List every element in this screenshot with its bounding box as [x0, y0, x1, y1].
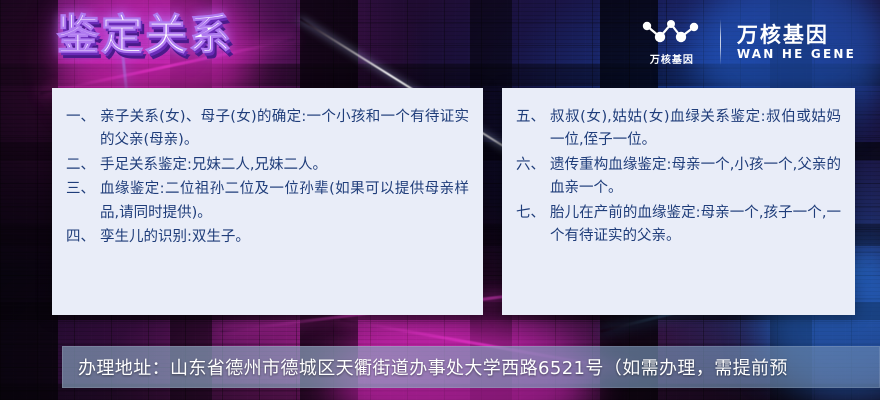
list-item-text: 叔叔(女),姑姑(女)血绿关系鉴定:叔伯或姑妈一位,侄子一位。: [550, 106, 841, 153]
list-item: 三、 血缘鉴定:二位祖孙二位及一位孙辈(如果可以提供母亲样品,请同时提供)。: [66, 178, 469, 225]
list-item-marker: 六、: [516, 154, 550, 177]
list-item-marker: 五、: [516, 106, 550, 129]
title-block: 鉴定关系: [57, 14, 233, 56]
brand-name-en: WAN HE GENE: [737, 47, 856, 61]
list-item: 四、 孪生儿的识别:双生子。: [66, 226, 469, 249]
address-banner: 办理地址：山东省德州市德城区天衢街道办事处大学西路6521号（如需办理，需提前预: [62, 346, 880, 388]
list-item-marker: 二、: [66, 154, 100, 177]
list-item: 二、 手足关系鉴定:兄妹二人,兄妹二人。: [66, 154, 469, 177]
relationship-list-panel-right: 五、 叔叔(女),姑姑(女)血绿关系鉴定:叔伯或姑妈一位,侄子一位。 六、 遗传…: [502, 88, 855, 315]
list-item-marker: 七、: [516, 202, 550, 225]
address-text: 办理地址：山东省德州市德城区天衢街道办事处大学西路6521号（如需办理，需提前预: [62, 354, 788, 380]
list-item: 七、 胎儿在产前的血缘鉴定:母亲一个,孩子一个,一个有待证实的父亲。: [516, 202, 841, 249]
list-item-text: 遗传重构血缘鉴定:母亲一个,小孩一个,父亲的血亲一个。: [550, 154, 841, 201]
list-item-text: 胎儿在产前的血缘鉴定:母亲一个,孩子一个,一个有待证实的父亲。: [550, 202, 841, 249]
list-item-marker: 三、: [66, 178, 100, 201]
list-item: 五、 叔叔(女),姑姑(女)血绿关系鉴定:叔伯或姑妈一位,侄子一位。: [516, 106, 841, 153]
list-item: 六、 遗传重构血缘鉴定:母亲一个,小孩一个,父亲的血亲一个。: [516, 154, 841, 201]
relationship-list-panel-left: 一、 亲子关系(女)、母子(女)的确定:一个小孩和一个有待证实的父亲(母亲)。 …: [52, 88, 483, 315]
list-item: 一、 亲子关系(女)、母子(女)的确定:一个小孩和一个有待证实的父亲(母亲)。: [66, 106, 469, 153]
list-item-marker: 一、: [66, 106, 100, 129]
brand-mark-label: 万核基因: [650, 51, 694, 66]
list-item-text: 手足关系鉴定:兄妹二人,兄妹二人。: [100, 154, 469, 177]
brand-words: 万核基因 WAN HE GENE: [737, 23, 856, 62]
page-title: 鉴定关系: [57, 14, 233, 56]
list-item-text: 孪生儿的识别:双生子。: [100, 226, 469, 249]
brand-divider: [720, 19, 721, 65]
brand-name-cn: 万核基因: [737, 23, 829, 47]
molecule-network-icon: [640, 18, 704, 48]
brand-logo: 万核基因 万核基因 WAN HE GENE: [640, 18, 856, 66]
brand-mark: 万核基因: [640, 18, 704, 66]
list-item-marker: 四、: [66, 226, 100, 249]
list-item-text: 血缘鉴定:二位祖孙二位及一位孙辈(如果可以提供母亲样品,请同时提供)。: [100, 178, 469, 225]
list-item-text: 亲子关系(女)、母子(女)的确定:一个小孩和一个有待证实的父亲(母亲)。: [100, 106, 469, 153]
slide-canvas: 鉴定关系: [0, 0, 880, 400]
